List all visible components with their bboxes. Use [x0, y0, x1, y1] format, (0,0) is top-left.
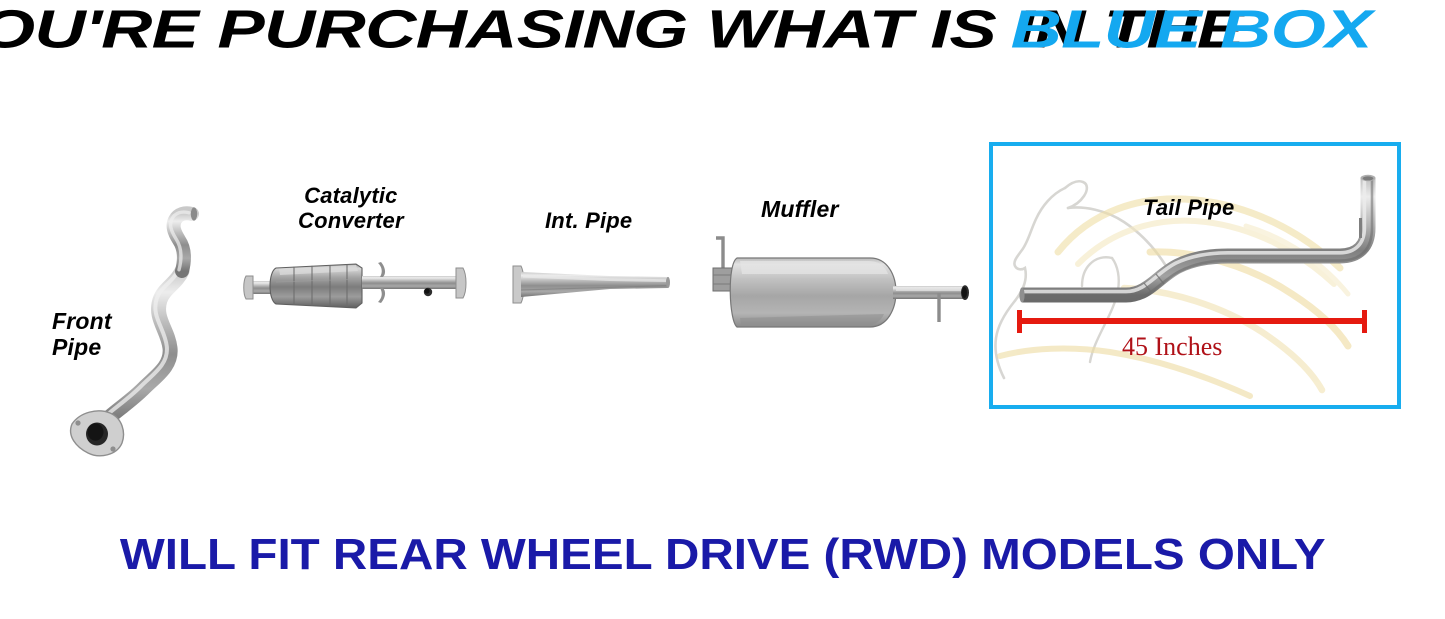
part-muffler [713, 238, 969, 327]
product-diagram-canvas: YOU'RE PURCHASING WHAT IS IN THE BLUE BO… [0, 0, 1445, 619]
front-pipe-flange [71, 411, 124, 456]
footer-banner: WILL FIT REAR WHEEL DRIVE (RWD) MODELS O… [0, 524, 1445, 584]
part-intermediate-pipe [513, 266, 670, 303]
header-text-blue: BLUE BOX [1010, 2, 1371, 56]
dimension-value-label: 45 Inches [1122, 332, 1222, 362]
footer-text: WILL FIT REAR WHEEL DRIVE (RWD) MODELS O… [120, 532, 1326, 575]
label-front-pipe: Front Pipe [52, 308, 112, 360]
label-catalytic-converter: Catalytic Converter [298, 183, 404, 233]
part-catalytic-converter [244, 262, 466, 308]
label-muffler: Muffler [761, 196, 839, 222]
header-banner: YOU'RE PURCHASING WHAT IS IN THE BLUE BO… [0, 0, 1445, 60]
label-intermediate-pipe: Int. Pipe [545, 208, 632, 233]
label-tail-pipe: Tail Pipe [1143, 195, 1234, 220]
blue-highlight-box [989, 142, 1401, 409]
